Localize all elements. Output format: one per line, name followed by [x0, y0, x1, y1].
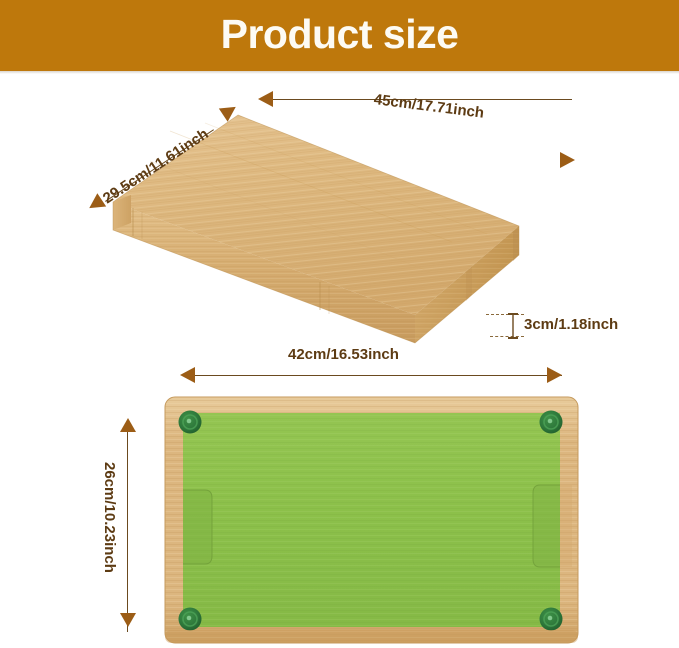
length-arrow-right: [560, 152, 575, 168]
top-view-board-section: 42cm/16.53inch 26cm/10.23inch: [0, 340, 679, 648]
board-foot-top-left: [179, 411, 202, 434]
header-banner: Product size: [0, 0, 679, 71]
length-arrow-left: [258, 91, 273, 107]
cutting-board-top-view-illustration: [0, 340, 679, 648]
page-title: Product size: [0, 0, 679, 71]
product-size-infographic: Product size: [0, 0, 679, 648]
board-foot-bottom-right: [540, 608, 563, 631]
perspective-board-section: 45cm/17.71inch 29.5cm/11.61inch 3cm/1.18…: [0, 71, 679, 361]
board-foot-top-right: [540, 411, 563, 434]
thickness-dimension-label: 3cm/1.18inch: [524, 316, 618, 333]
board-foot-bottom-left: [179, 608, 202, 631]
thickness-double-arrow: [504, 309, 524, 343]
